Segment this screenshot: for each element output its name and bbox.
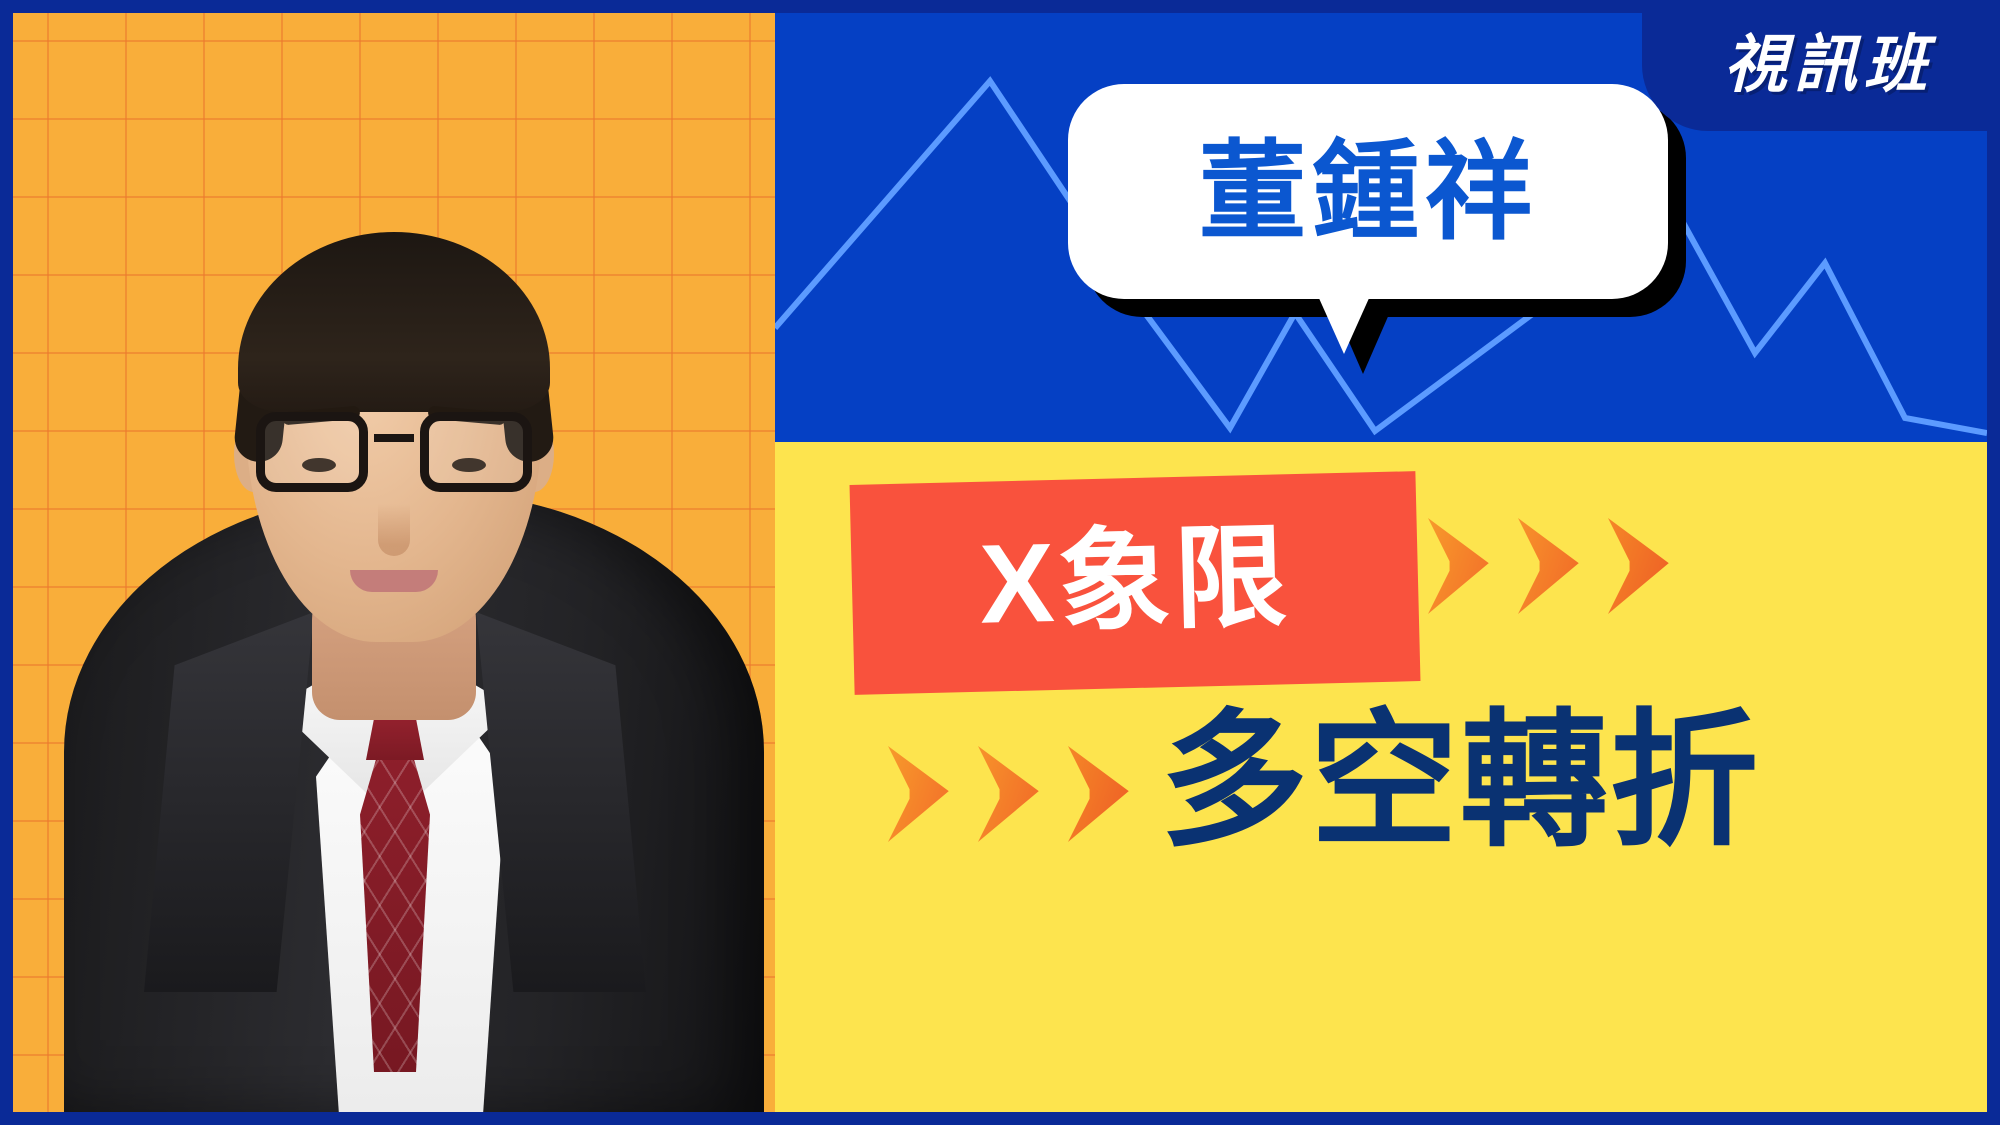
class-type-badge: 視訊班: [1642, 0, 2000, 131]
nose: [378, 504, 410, 556]
speaker-portrait-photo: [13, 52, 775, 1112]
eyeglass-lens-left: [256, 412, 368, 492]
headline-line-2: 多空轉折: [1160, 708, 1760, 856]
hair: [238, 232, 550, 412]
speaker-name-bubble-body: 董鍾祥: [1068, 84, 1668, 299]
class-type-badge-label: 視訊班: [1708, 34, 1934, 97]
chevron-right-icon: [1518, 518, 1616, 614]
eyeglass-bridge: [374, 434, 414, 442]
chevron-arrows-top: [1428, 518, 1698, 614]
mouth: [350, 570, 438, 592]
speaker-name-bubble: 董鍾祥: [1068, 84, 1668, 324]
speaker-name-label: 董鍾祥: [1198, 138, 1537, 246]
poster-canvas: 視訊班 董鍾祥 X象限 多空轉折: [0, 0, 2000, 1125]
headline-banner-primary: X象限: [850, 471, 1421, 695]
chevron-right-icon: [1608, 518, 1706, 614]
eyeglasses-icon: [254, 412, 534, 504]
eyeglass-lens-right: [420, 412, 532, 492]
chevron-right-icon: [1428, 518, 1526, 614]
chevron-arrows-bottom: [888, 746, 1158, 842]
chevron-right-icon: [978, 746, 1076, 842]
headline-line-1: X象限: [978, 521, 1291, 641]
chevron-right-icon: [1068, 746, 1166, 842]
portrait-panel: [13, 13, 775, 1112]
chevron-right-icon: [888, 746, 986, 842]
